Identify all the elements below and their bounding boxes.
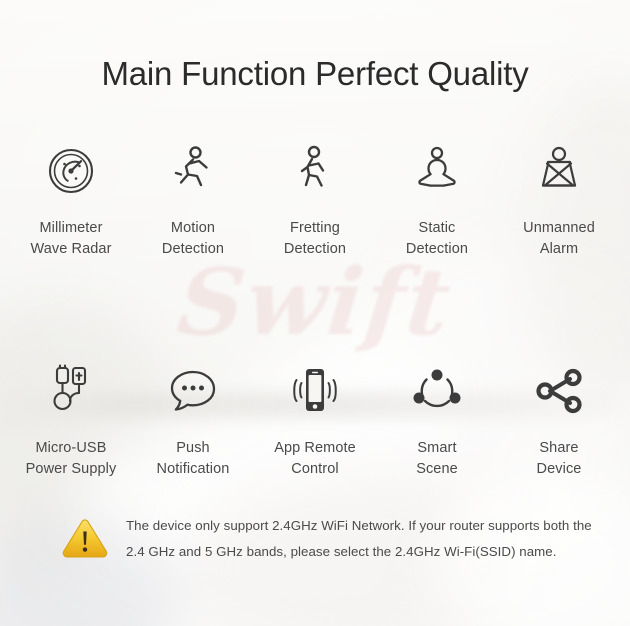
- feature-share-device: Share Device: [498, 360, 620, 479]
- speech-bubble-icon: [167, 360, 219, 422]
- feature-label: Motion Detection: [162, 218, 224, 259]
- feature-motion-detection: Motion Detection: [132, 140, 254, 259]
- feature-label: Static Detection: [406, 218, 468, 259]
- feature-label: Smart Scene: [416, 438, 458, 479]
- warning-triangle-icon: [62, 518, 108, 565]
- feature-millimeter-wave-radar: Millimeter Wave Radar: [10, 140, 132, 259]
- usb-cable-icon: [49, 360, 93, 422]
- walking-person-icon: [294, 140, 336, 202]
- feature-push-notification: Push Notification: [132, 360, 254, 479]
- feature-row-detection: Millimeter Wave Radar Motion Detection: [10, 140, 620, 259]
- feature-unmanned-alarm: Unmanned Alarm: [498, 140, 620, 259]
- feature-static-detection: Static Detection: [376, 140, 498, 259]
- feature-label: Push Notification: [157, 438, 230, 479]
- share-nodes-icon: [532, 360, 586, 422]
- smartphone-signal-icon: [287, 360, 343, 422]
- feature-label: Millimeter Wave Radar: [30, 218, 111, 259]
- feature-label: Share Device: [537, 438, 582, 479]
- millimeter-wave-radar-icon: [45, 140, 97, 202]
- wifi-notice: The device only support 2.4GHz WiFi Netw…: [62, 512, 584, 565]
- feature-label: Micro-USB Power Supply: [26, 438, 117, 479]
- notice-text: The device only support 2.4GHz WiFi Netw…: [126, 512, 592, 565]
- seated-person-icon: [412, 140, 462, 202]
- feature-label: Unmanned Alarm: [523, 218, 595, 259]
- feature-smart-scene: Smart Scene: [376, 360, 498, 479]
- feature-fretting-detection: Fretting Detection: [254, 140, 376, 259]
- smart-scene-nodes-icon: [411, 360, 463, 422]
- notice-line-1: The device only support 2.4GHz WiFi Netw…: [126, 513, 592, 539]
- product-feature-poster: Swift Main Function Perfect Quality: [0, 0, 630, 626]
- feature-label: Fretting Detection: [284, 218, 346, 259]
- feature-micro-usb-power-supply: Micro-USB Power Supply: [10, 360, 132, 479]
- feature-app-remote-control: App Remote Control: [254, 360, 376, 479]
- crossed-out-person-icon: [535, 140, 583, 202]
- feature-label: App Remote Control: [274, 438, 356, 479]
- running-person-icon: [170, 140, 216, 202]
- page-title: Main Function Perfect Quality: [0, 55, 630, 93]
- notice-line-2: 2.4 GHz and 5 GHz bands, please select t…: [126, 539, 592, 565]
- feature-row-connectivity: Micro-USB Power Supply Push Notification: [10, 360, 620, 479]
